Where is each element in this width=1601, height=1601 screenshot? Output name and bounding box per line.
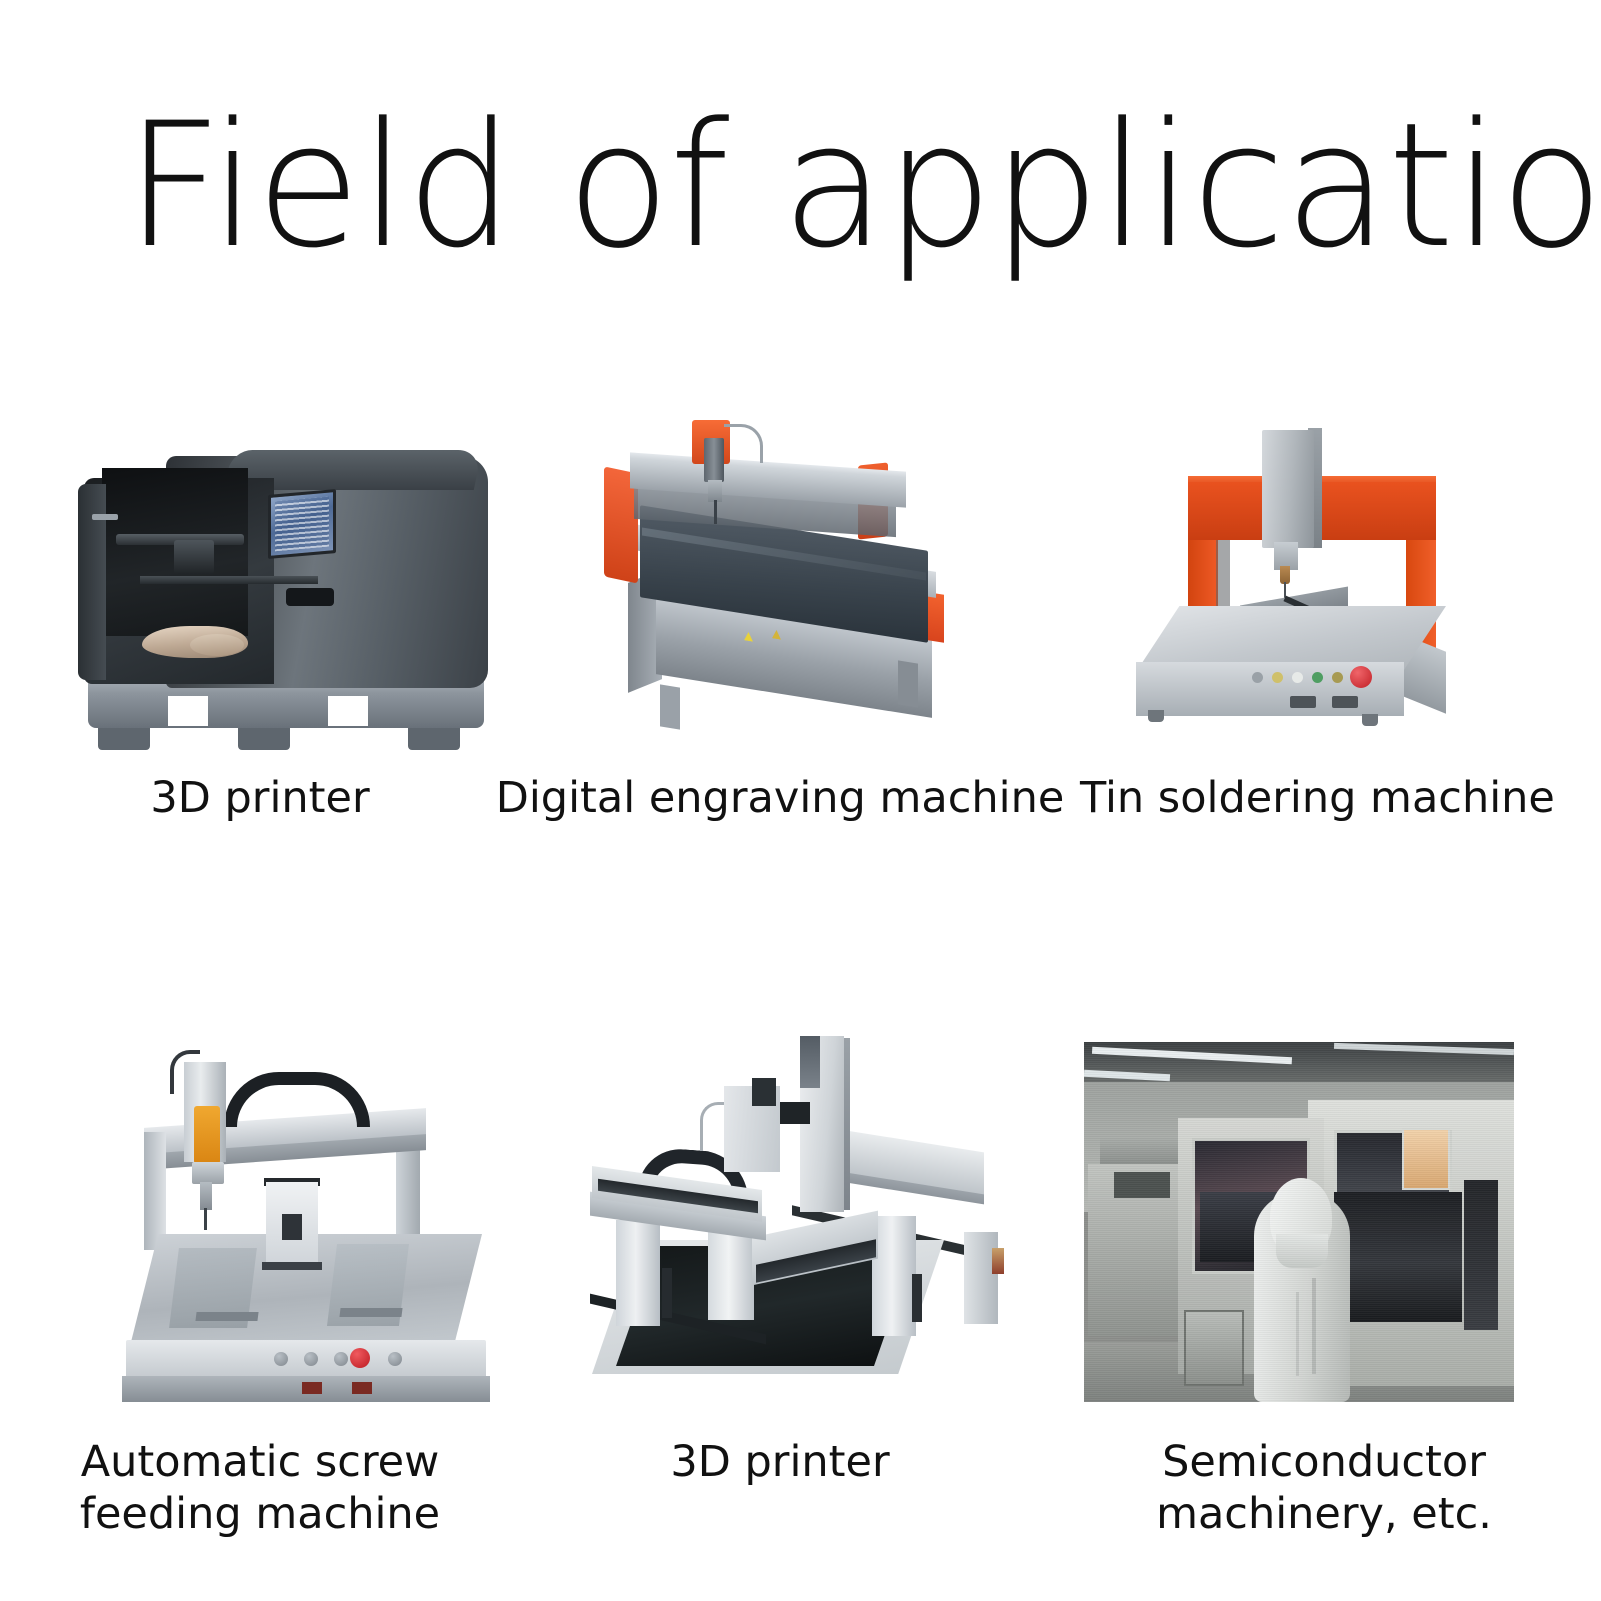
semiconductor-cleanroom-photo (1084, 1042, 1514, 1402)
indicator-button-1[interactable] (1252, 672, 1263, 683)
grid-row-1: 3D printer (0, 360, 1601, 860)
caption-digital-engraving-machine: Digital engraving machine (490, 772, 1070, 824)
screwdriver-head (194, 1106, 220, 1164)
grid-cell-semiconductor-machinery: Semiconductor machinery, etc. (1040, 860, 1601, 1520)
emergency-stop-button[interactable] (350, 1348, 370, 1368)
grid-cell-automatic-screw-feeding-machine: Automatic screw feeding machine (0, 860, 520, 1520)
caption-3d-printer: 3D printer (0, 772, 520, 824)
indicator-button-4[interactable] (1312, 672, 1323, 683)
automatic-screw-feeding-machine-photo (96, 1020, 516, 1420)
indicator-button-5[interactable] (1332, 672, 1343, 683)
caption-automatic-screw-feeding-machine: Automatic screw feeding machine (0, 1436, 520, 1541)
indicator-button-2[interactable] (1272, 672, 1283, 683)
panel-button-4[interactable] (388, 1352, 402, 1366)
industrial-3d-printer-photo (78, 448, 508, 748)
panel-button-1[interactable] (274, 1352, 288, 1366)
panel-button-3[interactable] (334, 1352, 348, 1366)
grid-cell-3d-printer: 3D printer (0, 360, 520, 860)
panel-button-2[interactable] (304, 1352, 318, 1366)
grid-cell-tin-soldering-machine: Tin soldering machine (1040, 360, 1601, 860)
emergency-stop-button[interactable] (1350, 666, 1372, 688)
cnc-engraving-machine-photo (568, 400, 968, 750)
grid-row-2: Automatic screw feeding machine (0, 860, 1601, 1520)
caption-tin-soldering-machine: Tin soldering machine (1080, 772, 1601, 824)
grid-cell-gantry-3d-printer: 3D printer (520, 860, 1040, 1520)
caption-gantry-3d-printer: 3D printer (520, 1436, 1040, 1488)
caption-semiconductor-machinery: Semiconductor machinery, etc. (1054, 1436, 1594, 1541)
application-grid: 3D printer (0, 360, 1601, 1520)
gantry-3d-printer-photo (556, 1028, 1016, 1408)
page-title: Field of application (125, 100, 1471, 272)
grid-cell-digital-engraving-machine: Digital engraving machine (520, 360, 1040, 860)
tin-soldering-machine-photo (1092, 400, 1572, 750)
indicator-button-3[interactable] (1292, 672, 1303, 683)
